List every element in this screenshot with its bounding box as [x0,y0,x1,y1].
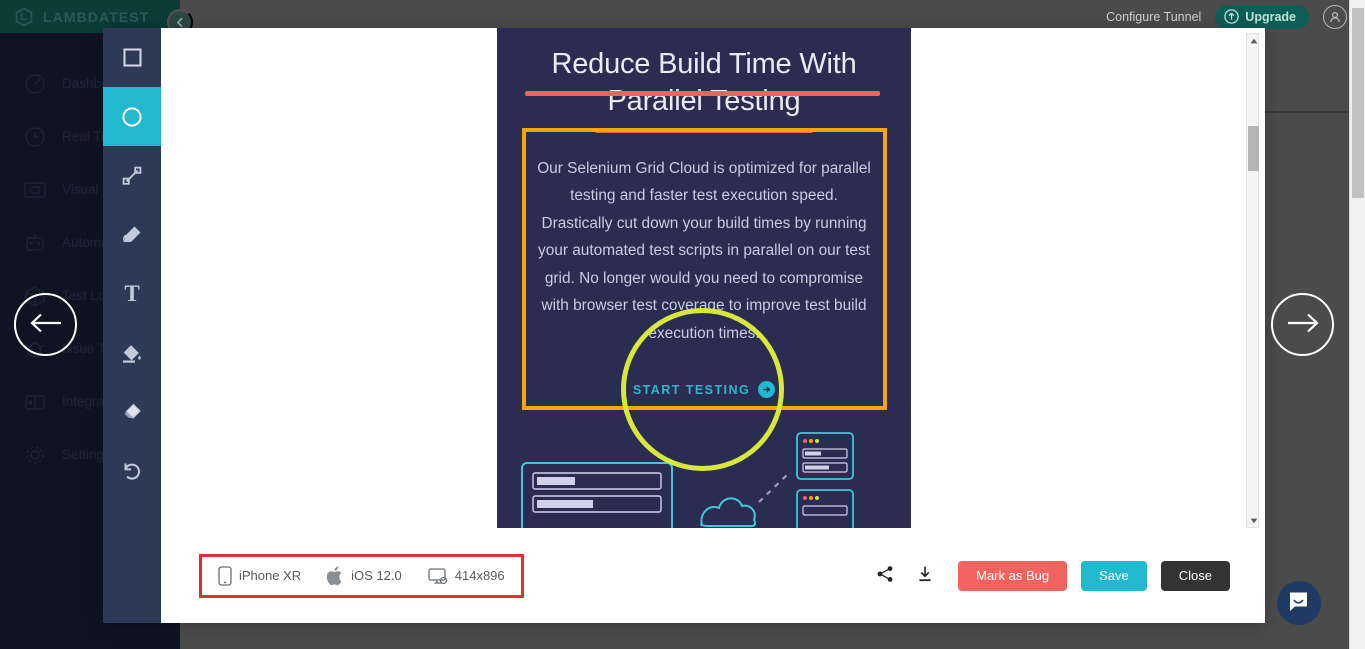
marker-tool-button[interactable] [103,205,161,264]
brand-name: LAMBDATEST [43,9,149,25]
footer-action-group: Mark as Bug Save Close [872,561,1230,591]
eye-screen-icon [22,178,48,202]
device-name-label: iPhone XR [239,568,301,583]
annotation-canvas[interactable]: Reduce Build Time With Parallel Testing … [161,28,1265,528]
arrow-left-icon [29,312,63,337]
text-tool-button[interactable]: T [103,264,161,323]
device-name: iPhone XR [218,566,301,586]
puzzle-icon [22,390,48,414]
window-scrollbar[interactable] [1349,0,1365,649]
speedometer-icon [22,72,48,96]
device-os: iOS 12.0 [327,566,402,586]
drawing-tool-rail: T [103,28,161,623]
screen-root: LAMBDATEST Dashboard Real Time Visual UI [0,0,1365,649]
user-avatar[interactable] [1323,5,1347,29]
square-icon [122,47,143,68]
line-tool-button[interactable] [103,146,161,205]
save-button[interactable]: Save [1081,561,1147,591]
device-resolution-label: 414x896 [455,568,505,583]
eraser-tool-button[interactable] [103,382,161,441]
fill-tool-button[interactable] [103,323,161,382]
share-icon [876,565,894,586]
arrow-right-circle-icon [758,381,775,398]
chat-bubble-icon [1287,590,1311,617]
screenshot-annotation-modal: T Reduce Build Time W [103,28,1265,623]
upgrade-label: Upgrade [1245,10,1296,24]
undo-tool-button[interactable] [103,441,161,500]
gear-icon [22,443,48,467]
eraser-icon [120,400,144,424]
captured-screenshot: Reduce Build Time With Parallel Testing … [497,28,911,528]
configure-tunnel-link[interactable]: Configure Tunnel [1106,10,1201,24]
marker-icon [120,223,144,247]
share-button[interactable] [872,563,898,589]
download-icon [916,565,934,586]
scroll-up-arrow-icon[interactable] [1247,34,1260,47]
previous-screenshot-button[interactable] [14,293,77,356]
download-button[interactable] [912,563,938,589]
close-button[interactable]: Close [1161,561,1230,591]
start-testing-cta[interactable]: START TESTING [497,381,911,398]
device-os-label: iOS 12.0 [351,568,402,583]
line-icon [121,165,143,187]
paint-bucket-icon [120,341,144,365]
lambdatest-logo-icon [14,7,34,27]
device-resolution: 414x896 [428,567,505,585]
cta-label: START TESTING [633,383,750,397]
phone-icon [218,566,232,586]
shot-paragraph: Our Selenium Grid Cloud is optimized for… [521,143,887,365]
clock-icon [22,125,48,149]
text-t-icon: T [124,282,139,305]
annotation-underline-1 [525,91,880,96]
mark-as-bug-button[interactable]: Mark as Bug [958,561,1067,591]
rectangle-tool-button[interactable] [103,28,161,87]
arrow-right-icon [1286,312,1320,337]
device-info-bar: iPhone XR iOS 12.0 414x896 [199,554,524,598]
upgrade-button[interactable]: Upgrade [1215,5,1309,29]
apple-icon [327,566,344,586]
scroll-down-arrow-icon[interactable] [1247,514,1260,527]
canvas-scroll-thumb[interactable] [1248,126,1259,171]
intercom-launcher-button[interactable] [1277,581,1321,625]
shot-heading: Reduce Build Time With Parallel Testing [515,46,893,119]
annotation-underline-2 [595,128,813,133]
undo-icon [121,460,143,482]
window-scroll-thumb[interactable] [1352,8,1364,198]
canvas-scrollbar[interactable] [1246,33,1259,528]
circle-icon [121,106,143,128]
monitor-icon [428,567,448,585]
upgrade-arrow-icon [1224,9,1239,24]
robot-icon [22,231,48,255]
shot-illustration [497,418,911,528]
next-screenshot-button[interactable] [1271,293,1334,356]
modal-footer: iPhone XR iOS 12.0 414x896 [161,528,1265,623]
ellipse-tool-button[interactable] [103,87,161,146]
